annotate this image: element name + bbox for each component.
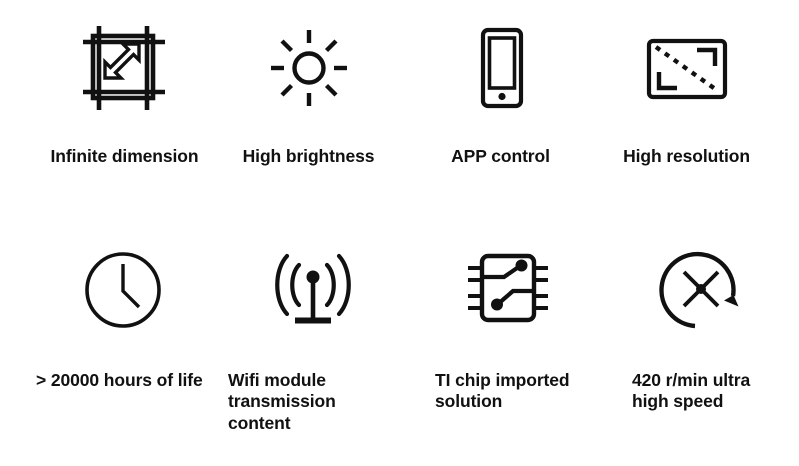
rotation-fan-speed-icon (592, 240, 777, 340)
feature-item-rotation-speed: 420 r/min ultra high speed (592, 240, 777, 413)
feature-item-high-resolution: High resolution (594, 18, 779, 167)
resize-frame-icon (32, 18, 217, 118)
feature-item-ti-chip: TI chip imported solution (404, 240, 589, 413)
feature-label: Wifi module transmission content (214, 370, 399, 434)
sun-brightness-icon (216, 18, 401, 118)
tablet-device-icon (408, 18, 593, 118)
antenna-wifi-icon (214, 240, 399, 340)
feature-label: High brightness (216, 146, 401, 167)
feature-label: Infinite dimension (32, 146, 217, 167)
feature-label: 420 r/min ultra high speed (592, 370, 777, 413)
feature-item-high-brightness: High brightness (216, 18, 401, 167)
feature-item-wifi-module: Wifi module transmission content (214, 240, 399, 434)
feature-item-app-control: APP control (408, 18, 593, 167)
feature-label: > 20000 hours of life (30, 370, 215, 391)
clock-icon (30, 240, 215, 340)
feature-label: APP control (408, 146, 593, 167)
feature-item-lifetime-hours: > 20000 hours of life (30, 240, 215, 391)
feature-grid: Infinite dimension High brightness (0, 0, 799, 466)
feature-label: TI chip imported solution (404, 370, 589, 413)
screen-diagonal-icon (594, 18, 779, 118)
feature-item-infinite-dimension: Infinite dimension (32, 18, 217, 167)
microchip-icon (404, 240, 589, 340)
feature-label: High resolution (594, 146, 779, 167)
